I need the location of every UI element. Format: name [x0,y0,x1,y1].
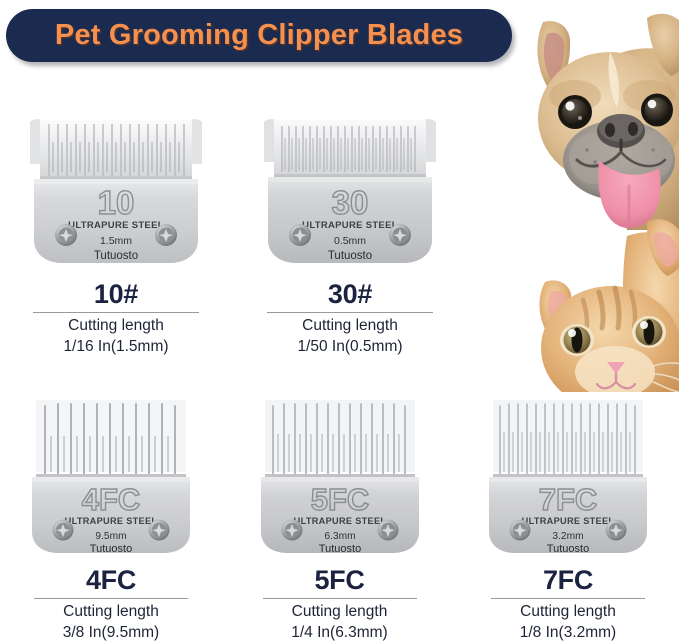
screw-left-10 [55,224,77,246]
screw-left-7fc [510,520,531,541]
blade-caption-10: 10# Cutting length 1/16 In(1.5mm) [18,280,214,357]
blade-mm-30: 0.5mm [334,235,366,247]
blade-mm-5fc: 6.3mm [324,531,355,542]
screw-right-7fc [606,520,627,541]
cutting-length-label-4fc: Cutting length [63,602,159,623]
product-image-canvas: Pet Grooming Clipper Blades [0,0,679,642]
cutting-length-label-7fc: Cutting length [520,602,616,623]
blade-caption-5fc: 5FC Cutting length 1/4 In(6.3mm) [247,566,433,643]
page-title: Pet Grooming Clipper Blades [55,19,463,52]
blade-engraved-number-5fc: 5FC [310,482,369,517]
pets-photo [507,0,679,392]
steel-label-4fc: ULTRAPURE STEEL [65,516,158,526]
blade-card-30: 30 ULTRAPURE STEEL 0.5mm Tutuosto [252,102,448,357]
cutting-length-value-7fc: 1/8 In(3.2mm) [520,623,616,643]
cutting-length-label-10: Cutting length [68,316,164,337]
blade-card-5fc: 5FC ULTRAPURE STEEL 6.3mm Tutuosto [247,392,433,643]
blade-engraved-number-4fc: 4FC [82,482,141,517]
blade-engraved-number-7fc: 7FC [539,482,598,517]
blade-model-7fc: 7FC [543,566,593,595]
caption-divider [33,312,199,314]
steel-label-30: ULTRAPURE STEEL [302,220,398,231]
blade-model-4fc: 4FC [86,566,136,595]
screw-left-5fc [281,520,302,541]
blade-image-10: 10 ULTRAPURE STEEL 1.5mm Tutuosto [18,102,214,274]
blade-card-4fc: 4FC ULTRAPURE STEEL 9.5mm Tutuosto [18,392,204,643]
screw-right-30 [389,224,411,246]
blade-mm-7fc: 3.2mm [552,531,583,542]
brand-label-10: Tutuosto [94,250,138,262]
brand-label-5fc: Tutuosto [318,543,360,555]
cutting-length-value-10: 1/16 In(1.5mm) [63,337,168,358]
blade-mm-4fc: 9.5mm [95,531,126,542]
steel-label-7fc: ULTRAPURE STEEL [522,516,615,526]
blade-engraved-number-30: 30 [332,184,369,221]
steel-label-10: ULTRAPURE STEEL [68,220,164,231]
blade-row-bottom: 4FC ULTRAPURE STEEL 9.5mm Tutuosto [18,392,661,643]
caption-divider [263,598,417,600]
cutting-length-value-30: 1/50 In(0.5mm) [297,337,402,358]
cutting-length-value-5fc: 1/4 In(6.3mm) [291,623,387,643]
blade-model-30: 30# [328,280,372,309]
blade-mm-10: 1.5mm [100,235,132,247]
header-banner: Pet Grooming Clipper Blades [6,9,512,62]
blade-caption-4fc: 4FC Cutting length 3/8 In(9.5mm) [18,566,204,643]
screw-left-30 [289,224,311,246]
cutting-length-value-4fc: 3/8 In(9.5mm) [63,623,159,643]
caption-divider [267,312,433,314]
blade-card-10: 10 ULTRAPURE STEEL 1.5mm Tutuosto [18,102,214,357]
caption-divider [34,598,188,600]
blade-caption-7fc: 7FC Cutting length 1/8 In(3.2mm) [475,566,661,643]
screw-left-4fc [53,520,74,541]
screw-right-4fc [149,520,170,541]
cutting-length-label-5fc: Cutting length [292,602,388,623]
blade-image-7fc: 7FC ULTRAPURE STEEL 3.2mm Tutuosto [475,392,661,560]
blade-card-7fc: 7FC ULTRAPURE STEEL 3.2mm Tutuosto [475,392,661,643]
blade-row-top: 10 ULTRAPURE STEEL 1.5mm Tutuosto [18,102,448,357]
blade-image-30: 30 ULTRAPURE STEEL 0.5mm Tutuosto [252,102,448,274]
brand-label-7fc: Tutuosto [547,543,589,555]
blade-image-4fc: 4FC ULTRAPURE STEEL 9.5mm Tutuosto [18,392,204,560]
blade-engraved-number-10: 10 [98,184,135,221]
screw-right-5fc [377,520,398,541]
brand-label-4fc: Tutuosto [90,543,132,555]
blade-model-10: 10# [94,280,138,309]
brand-label-30: Tutuosto [328,250,372,262]
caption-divider [491,598,645,600]
blade-model-5fc: 5FC [314,566,364,595]
cutting-length-label-30: Cutting length [302,316,398,337]
blade-caption-30: 30# Cutting length 1/50 In(0.5mm) [252,280,448,357]
blade-image-5fc: 5FC ULTRAPURE STEEL 6.3mm Tutuosto [247,392,433,560]
steel-label-5fc: ULTRAPURE STEEL [293,516,386,526]
screw-right-10 [155,224,177,246]
